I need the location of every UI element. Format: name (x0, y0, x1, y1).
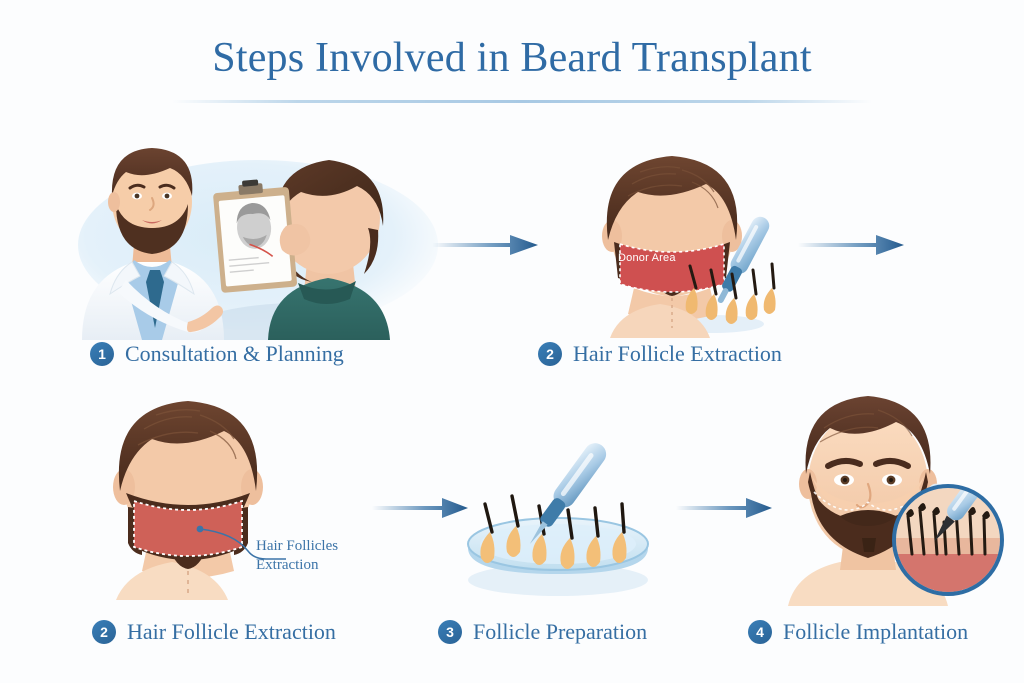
extraction-region (134, 501, 242, 556)
doctor-figure (82, 148, 224, 340)
illustration-hair-follicle-extraction-top (562, 148, 792, 338)
step-title-2-top: Hair Follicle Extraction (573, 341, 782, 367)
step-title-2-bottom: Hair Follicle Extraction (127, 619, 336, 645)
illustration-consultation-planning (72, 140, 452, 340)
step-title-1: Consultation & Planning (125, 341, 344, 367)
title-divider (172, 100, 872, 103)
page-title: Steps Involved in Beard Transplant (0, 34, 1024, 82)
step-badge-4: 4 (748, 620, 772, 644)
step-title-4: Follicle Implantation (783, 619, 968, 645)
step-badge-2-top: 2 (538, 342, 562, 366)
step-label-consultation-planning[interactable]: 1 Consultation & Planning (90, 341, 344, 367)
infographic-canvas: Steps Involved in Beard Transplant (0, 0, 1024, 683)
step-label-hair-follicle-extraction-top[interactable]: 2 Hair Follicle Extraction (538, 341, 782, 367)
arrow-step-2-to-next (798, 232, 908, 258)
annotation-hair-follicles-extraction: Hair Follicles Extraction (256, 537, 338, 575)
arrow-step-1-to-2 (432, 232, 542, 258)
step-label-hair-follicle-extraction-bottom[interactable]: 2 Hair Follicle Extraction (92, 619, 336, 645)
step-badge-1: 1 (90, 342, 114, 366)
illustration-follicle-preparation (448, 440, 673, 605)
step-title-3: Follicle Preparation (473, 619, 647, 645)
step-badge-2-bottom: 2 (92, 620, 116, 644)
donor-area-label: Donor Area (618, 252, 676, 264)
illustration-follicle-implantation (758, 388, 1014, 606)
step-label-follicle-preparation[interactable]: 3 Follicle Preparation (438, 619, 647, 645)
step-badge-3: 3 (438, 620, 462, 644)
step-label-follicle-implantation[interactable]: 4 Follicle Implantation (748, 619, 968, 645)
